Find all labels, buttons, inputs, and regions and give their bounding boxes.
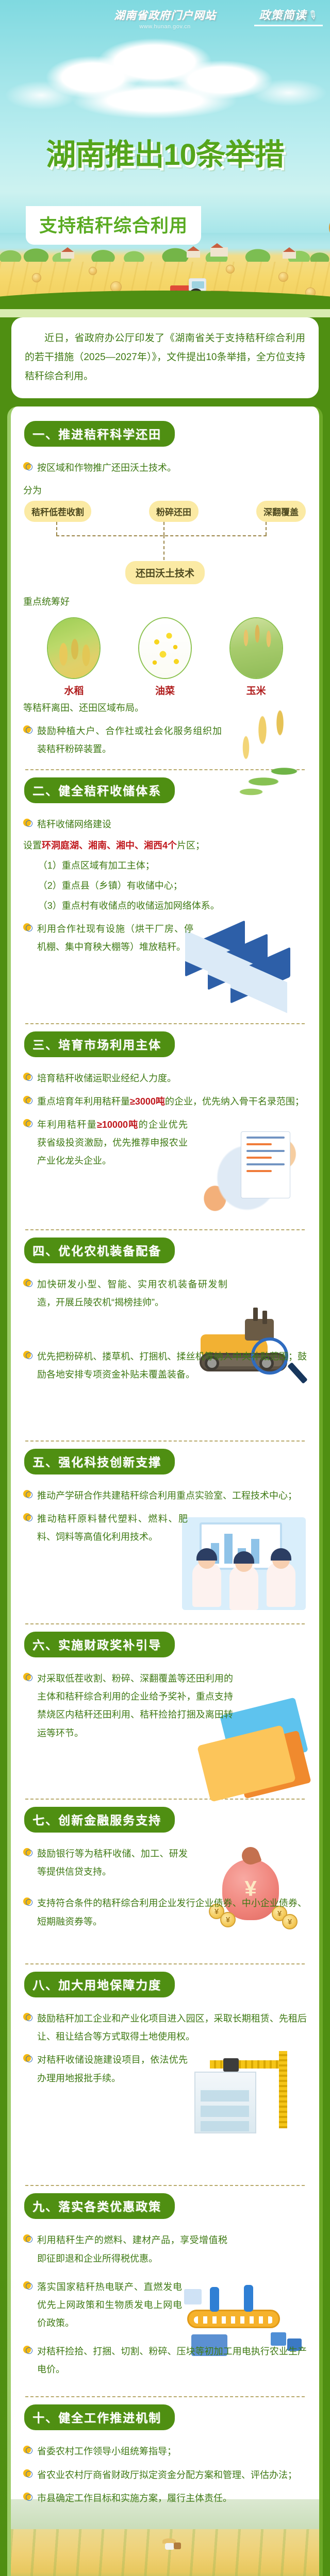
section-1-after-crops: 等秸秆离田、还田区域布局。	[23, 699, 199, 717]
section-2-zone-line: 设置环洞庭湖、湘南、湘中、湘西4个片区；	[23, 837, 307, 855]
bullet-dot-icon	[23, 2234, 33, 2244]
section-9-bullet-3: 对秸秆捡拾、打捆、切割、粉碎、压块等初加工用电执行农业生产电价。	[23, 2343, 307, 2379]
section-1-flow-lead: 分为	[23, 483, 307, 497]
section-6-bullet-1: 对采取低茬收割、粉碎、深翻覆盖等还田利用的主体和秸秆综合利用的企业给予奖补，重点…	[23, 1670, 233, 1742]
pill-soil-enrich-tech: 还田沃土技术	[125, 561, 205, 584]
bullet-dot-icon	[23, 2493, 33, 2502]
bullet-dot-icon	[23, 923, 33, 933]
section-1: 一、推进秸秆科学还田 按区域和作物推广还田沃土技术。 分为 秸秆低茬收割 粉碎还…	[23, 418, 307, 758]
content-body: 近日，省政府办公厅印发了《湖南省关于支持秸秆综合利用的若干措施（2025—202…	[0, 317, 330, 2576]
pencil-icon: ✎	[305, 7, 321, 24]
pill-deep-plow: 深翻覆盖	[256, 501, 306, 522]
section-10: 十、健全工作推进机制 省委农村工作领导小组统筹指导； 省农业农村厅商省财政厅拟定…	[23, 2401, 307, 2507]
bullet-dot-icon	[23, 1119, 33, 1129]
section-divider	[25, 2185, 305, 2186]
section-5-bullet-1: 推动产学研合作共建秸秆综合利用重点实验室、工程技术中心；	[23, 1487, 307, 1505]
bullet-dot-icon	[23, 2469, 33, 2479]
section-3-bullet-1: 培育秸秆收储运职业经纪人力度。	[23, 1070, 307, 1088]
bullet-dot-icon	[23, 1490, 33, 1500]
policy-digest-badge: 政策简读✎	[254, 5, 323, 26]
intro-paragraph: 近日，省政府办公厅印发了《湖南省关于支持秸秆综合利用的若干措施（2025—202…	[25, 329, 305, 386]
section-3-heading: 三、培育市场利用主体	[24, 1031, 175, 1057]
section-divider	[25, 2396, 305, 2397]
section-3: 三、培育市场利用主体 培育秸秆收储运职业经纪人力度。 重点培育年利用秸秆量≥30…	[23, 1028, 307, 1219]
crop-rapeseed: 油菜	[134, 617, 196, 697]
section-7: 七、创新金融服务支持 ¥ ¥ ¥ ¥ ¥ 鼓励银行等为秸秆收储、加工、研发等提供…	[23, 1804, 307, 1953]
bullet-dot-icon	[23, 1096, 33, 1106]
bullet-dot-icon	[23, 1848, 33, 1858]
bullet-dot-icon	[23, 2281, 33, 2291]
section-2-item-1: （1）重点区域有加工主体；	[23, 857, 307, 875]
section-10-bullet-2: 省农业农村厅商省财政厅拟定资金分配方案和管理、评估办法；	[23, 2466, 307, 2484]
building-icon	[194, 2072, 256, 2133]
section-divider	[25, 1963, 305, 1964]
bullet-dot-icon	[23, 2054, 33, 2064]
section-2: 二、健全秸秆收储体系 秸秆收储网络建设 设置环洞庭湖、湘南、湘中、湘西4个片区；…	[23, 774, 307, 1013]
section-9-bullet-1: 利用秸秆生产的燃料、建材产品，享受增值税即征即退和企业所得税优惠。	[23, 2231, 227, 2267]
hero-banner: 湖南省政府门户网站 www.hunan.gov.cn 政策简读✎ 湖南推出10条…	[0, 0, 330, 309]
section-9-heading: 九、落实各类优惠政策	[24, 2193, 175, 2219]
page-title: 湖南推出10条举措	[0, 140, 330, 170]
section-8-heading: 八、加大用地保障力度	[24, 1972, 175, 1997]
section-4-bullet-1: 加快研发小型、智能、实用农机装备研发制造，开展丘陵农机“揭榜挂帅”。	[23, 1276, 227, 1312]
document-icon	[241, 1131, 290, 1198]
bullet-dot-icon	[23, 2013, 33, 2023]
section-1-crops-lead: 重点统筹好	[23, 595, 307, 608]
section-7-bullet-2: 支持符合条件的秸秆综合利用企业发行企业债券、中小企业债券、短期融资券等。	[23, 1894, 307, 1930]
bullet-dot-icon	[23, 462, 33, 472]
presentation-screen-icon	[200, 1522, 282, 1570]
threshold-10000t: ≥10000吨	[97, 1120, 139, 1130]
infographic-poster: 湖南省政府门户网站 www.hunan.gov.cn 政策简读✎ 湖南推出10条…	[0, 0, 330, 2576]
section-7-bullet-1: 鼓励银行等为秸秆收储、加工、研发等提供信贷支持。	[23, 1845, 188, 1881]
laboratory-team-icon	[182, 1517, 306, 1610]
section-1-bullet-2: 鼓励种植大户、合作社或社会化服务组织加装秸秆粉碎装置。	[23, 722, 222, 758]
section-5-heading: 五、强化科技创新支撑	[24, 1449, 175, 1475]
threshold-3000t: ≥3000吨	[130, 1096, 165, 1107]
section-10-heading: 十、健全工作推进机制	[24, 2404, 175, 2430]
page-subtitle: 支持秸秆综合利用	[39, 211, 188, 238]
section-1-flow-connector	[24, 522, 306, 560]
section-10-bullet-1: 省委农村工作领导小组统筹指导；	[23, 2443, 307, 2461]
section-4-heading: 四、优化农机装备配备	[24, 1238, 175, 1263]
section-divider	[25, 1229, 305, 1230]
section-2-item-3: （3）重点村有收储点的收储运加网络体系。	[23, 897, 307, 915]
policy-digest-label: 政策简读	[259, 9, 307, 22]
section-1-pill-row: 秸秆低茬收割 粉碎还田 深翻覆盖	[24, 501, 306, 522]
section-2-bullet-2: 利用合作社现有设施（烘干厂房、停机棚、集中育秧大棚等）堆放秸秆。	[23, 920, 193, 956]
bullet-dot-icon	[23, 1897, 33, 1907]
section-9: 九、落实各类优惠政策 利用秸秆生	[23, 2190, 307, 2386]
corn-plant-icon	[230, 618, 282, 678]
section-6: 六、实施财政奖补引导 对采取低茬收割、粉碎、深翻覆盖等还田利用的主体和秸秆综合利…	[23, 1629, 307, 1788]
section-3-bullet-2: 重点培育年利用秸秆量≥3000吨的企业，优先纳入骨干名录范围；	[23, 1093, 307, 1111]
bullet-dot-icon	[23, 1351, 33, 1361]
section-8-bullet-1: 鼓励秸秆加工企业和产业化项目进入园区，采取长期租赁、先租后让、租让结合等方式取得…	[23, 2010, 307, 2046]
section-divider	[25, 769, 305, 770]
bullet-dot-icon	[23, 1279, 33, 1289]
construction-crane-icon	[189, 2051, 308, 2154]
section-1-crop-gallery: 水稻 油菜 玉米	[28, 617, 302, 697]
section-9-bullet-2: 落实国家秸秆热电联产、直燃发电优先上网政策和生物质发电上网电价政策。	[23, 2278, 182, 2332]
intro-card: 近日，省政府办公厅印发了《湖南省关于支持秸秆综合利用的若干措施（2025—202…	[11, 317, 319, 398]
section-5-bullet-2: 推动秸秆原料替代塑料、燃料、肥料、饲料等高值化利用技术。	[23, 1510, 188, 1546]
bullet-dot-icon	[23, 2346, 33, 2355]
section-4-bullet-2: 优先把粉碎机、搂草机、打捆机、揉丝机等纳入中央补贴范围；鼓励各地安排专项资金补贴…	[23, 1348, 307, 1384]
section-2-heading: 二、健全秸秆收储体系	[24, 777, 175, 803]
pill-low-stubble: 秸秆低茬收割	[24, 501, 91, 522]
section-divider	[25, 1623, 305, 1624]
crop-corn: 玉米	[225, 617, 287, 697]
section-divider	[25, 1799, 305, 1800]
section-divider	[25, 1023, 305, 1024]
bullet-dot-icon	[23, 2446, 33, 2455]
person-with-document-icon	[185, 1116, 309, 1234]
section-3-bullet-3: 年利用秸秆量≥10000吨的企业优先获省级投资激励，优先推荐申报农业产业化龙头企…	[23, 1116, 188, 1170]
section-8: 八、加大用地保障力度 鼓励秸秆加工企业和产业化项目进入园区，采取长期租赁、先租后…	[23, 1969, 307, 2175]
section-4: 四、优化农机装备配备	[23, 1234, 307, 1430]
bullet-dot-icon	[23, 1073, 33, 1082]
section-2-bullet-1: 秸秆收储网络建设	[23, 816, 307, 834]
section-5: 五、强化科技创新支撑 推动产学研合作共建秸秆综合利用重点实验室、工程技术中心；	[23, 1446, 307, 1613]
subtitle-plate: 支持秸秆综合利用	[26, 206, 201, 245]
section-8-bullet-2: 对秸秆收储设施建设项目，依法优先办理用地报批手续。	[23, 2051, 188, 2087]
section-10-bullet-3: 市县确定工作目标和实施方案，履行主体责任。	[23, 2489, 307, 2507]
crop-rice: 水稻	[43, 617, 105, 697]
bullet-dot-icon	[23, 1673, 33, 1683]
section-6-heading: 六、实施财政奖补引导	[24, 1632, 175, 1657]
section-2-item-2: （2）重点县（乡镇）有收储中心；	[23, 877, 307, 895]
rapeseed-plant-icon	[139, 618, 191, 678]
section-1-heading: 一、推进秸秆科学还田	[24, 421, 175, 447]
pill-crush-return: 粉碎还田	[149, 501, 199, 522]
section-1-bullet-1: 按区域和作物推广还田沃土技术。	[23, 459, 307, 477]
bullet-dot-icon	[23, 1513, 33, 1523]
measures-card: 一、推进秸秆科学还田 按区域和作物推广还田沃土技术。 分为 秸秆低茬收割 粉碎还…	[7, 406, 323, 2576]
zone-highlight: 环洞庭湖、湘南、湘中、湘西4个	[42, 840, 177, 851]
bullet-dot-icon	[23, 819, 33, 828]
bullet-dot-icon	[23, 725, 33, 735]
warehouse-icon	[185, 922, 304, 1010]
section-divider	[25, 1440, 305, 1442]
section-1-flow-result: 还田沃土技术	[23, 561, 307, 584]
section-7-heading: 七、创新金融服务支持	[24, 1807, 175, 1833]
rice-plant-icon	[48, 618, 100, 678]
